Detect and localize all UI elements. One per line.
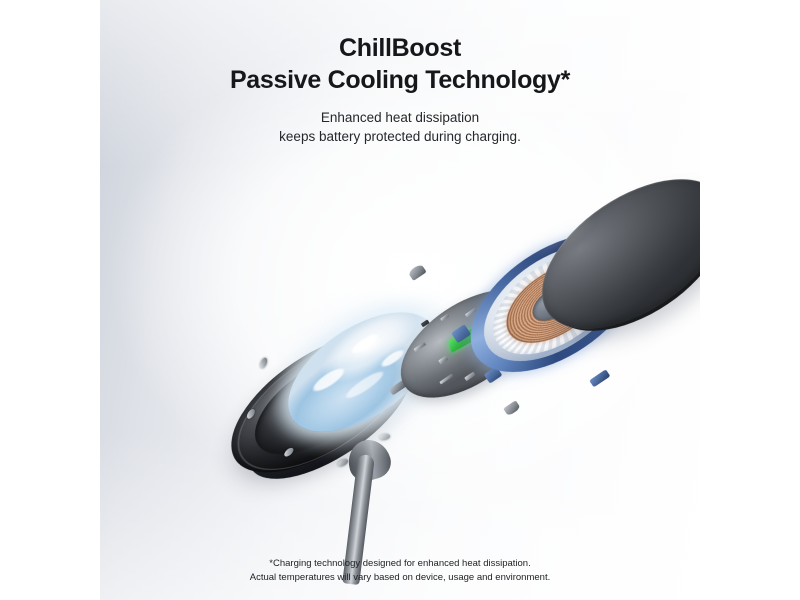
headline-line-2: Passive Cooling Technology*: [100, 64, 700, 96]
image-content-panel: ChillBoost Passive Cooling Technology* E…: [100, 0, 700, 600]
headline-block: ChillBoost Passive Cooling Technology* E…: [100, 32, 700, 146]
headline-line-1: ChillBoost: [100, 32, 700, 64]
subheadline-line-2: keeps battery protected during charging.: [100, 127, 700, 146]
subheadline: Enhanced heat dissipation keeps battery …: [100, 108, 700, 146]
product-marketing-image: ChillBoost Passive Cooling Technology* E…: [0, 0, 800, 600]
frost-speck: [310, 365, 346, 395]
legal-footnote: *Charging technology designed for enhanc…: [100, 557, 700, 586]
footnote-line-1: *Charging technology designed for enhanc…: [100, 557, 700, 572]
subheadline-line-1: Enhanced heat dissipation: [100, 108, 700, 127]
page-title: ChillBoost Passive Cooling Technology*: [100, 32, 700, 96]
footnote-line-2: Actual temperatures will vary based on d…: [100, 571, 700, 586]
